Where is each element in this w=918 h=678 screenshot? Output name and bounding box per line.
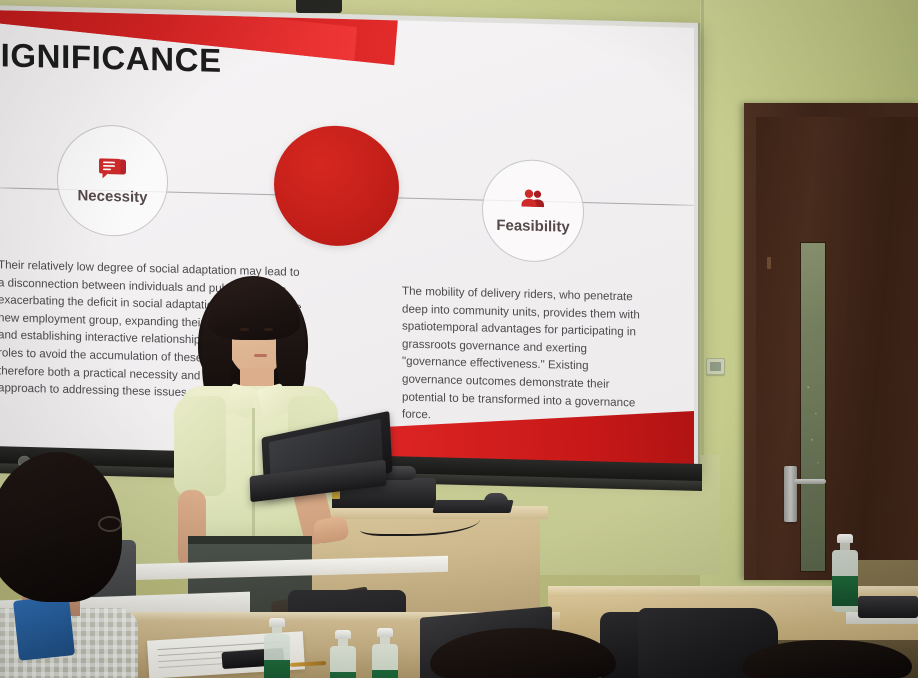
presenter-sleeve-left <box>174 396 226 496</box>
bottle-cap <box>377 628 393 637</box>
presenter-hand-right <box>312 515 350 545</box>
bottle-neck <box>840 543 850 550</box>
podium-mouse[interactable] <box>484 493 508 509</box>
bottle-body <box>372 644 398 678</box>
bottle-neck <box>380 637 390 644</box>
slide-node-necessity: Necessity <box>57 124 168 238</box>
bottle-body <box>264 634 290 678</box>
door-glass-panel <box>800 242 826 572</box>
screen-ceiling-mount <box>296 0 342 13</box>
water-bottle[interactable] <box>330 630 356 678</box>
glasses-icon <box>98 516 122 532</box>
door[interactable] <box>744 103 918 580</box>
audience-member-left <box>0 452 138 678</box>
room-scene: SIGNIFICANCE Necessity <box>0 0 918 678</box>
presenter-waistband <box>188 536 312 544</box>
bottle-neck <box>338 639 348 646</box>
presenter-eye-left <box>240 328 249 331</box>
bottle-body <box>330 646 356 678</box>
water-bottle[interactable] <box>372 628 398 678</box>
slide-node-label: Feasibility <box>496 216 569 235</box>
slide-body-right: The mobility of delivery riders, who pen… <box>402 282 644 429</box>
right-desk-laptop[interactable] <box>858 596 918 618</box>
chat-bubble-icon <box>98 156 128 183</box>
bottle-body <box>832 550 858 612</box>
bottle-cap <box>269 618 285 627</box>
slide-node-feasibility: Feasibility <box>482 159 584 264</box>
presenter-eye-right <box>264 328 273 331</box>
audience-left-lanyard <box>13 595 75 661</box>
slide-node-label: Necessity <box>77 187 147 206</box>
presenter-mouth <box>254 354 267 357</box>
slide-title: SIGNIFICANCE <box>0 36 222 80</box>
bottle-cap <box>335 630 351 639</box>
door-leaf <box>756 117 918 580</box>
door-hinge <box>767 257 771 269</box>
bottle-neck <box>272 627 282 634</box>
people-group-icon <box>519 187 547 212</box>
door-lever-handle[interactable] <box>794 479 826 484</box>
slide-center-circle <box>274 124 399 247</box>
water-bottle[interactable] <box>264 618 290 678</box>
water-bottle[interactable] <box>832 534 858 612</box>
wall-seam <box>701 0 704 470</box>
light-switch-plate[interactable] <box>706 358 725 375</box>
door-handle-plate[interactable] <box>784 466 797 522</box>
bottle-cap <box>837 534 853 543</box>
